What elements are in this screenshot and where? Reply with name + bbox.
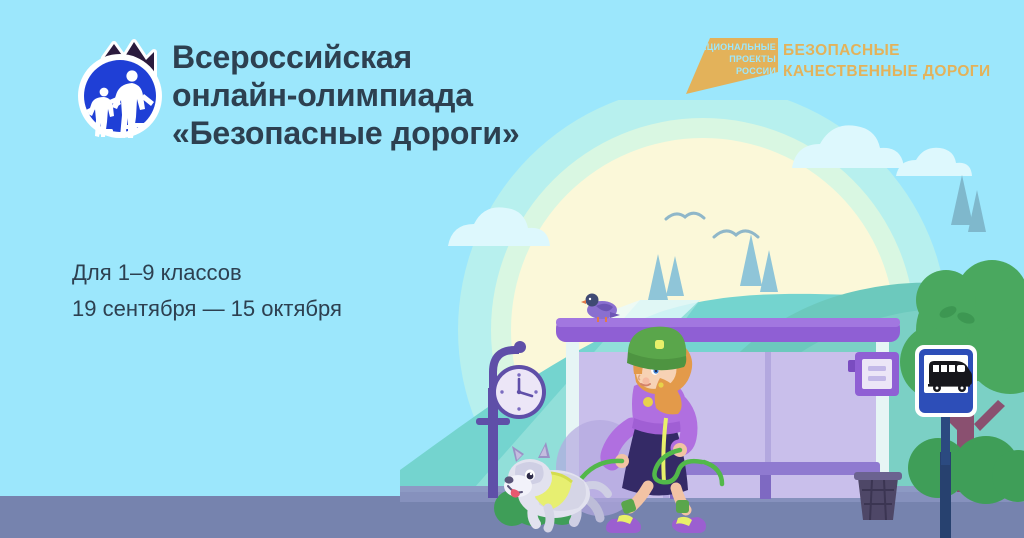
page-title: Всероссийская онлайн-олимпиада «Безопасн… xyxy=(172,38,519,152)
np-mark-line-1: НАЦИОНАЛЬНЫЕ xyxy=(693,42,776,52)
national-projects-label: БЕЗОПАСНЫЕ КАЧЕСТВЕННЫЕ ДОРОГИ xyxy=(783,40,991,82)
event-details: Для 1–9 классов 19 сентября — 15 октября xyxy=(72,255,342,327)
poster: НАЦИОНАЛЬНЫЕ ПРОЕКТЫ РОССИИ Всероссийска… xyxy=(0,0,1024,538)
national-projects-mark: НАЦИОНАЛЬНЫЕ ПРОЕКТЫ РОССИИ xyxy=(686,36,778,94)
bush-right xyxy=(908,436,1024,504)
info-board xyxy=(848,352,899,396)
np-mark-line-3: РОССИИ xyxy=(736,66,776,76)
np-mark-line-2: ПРОЕКТЫ xyxy=(729,54,776,64)
olympiad-emblem xyxy=(74,34,166,146)
